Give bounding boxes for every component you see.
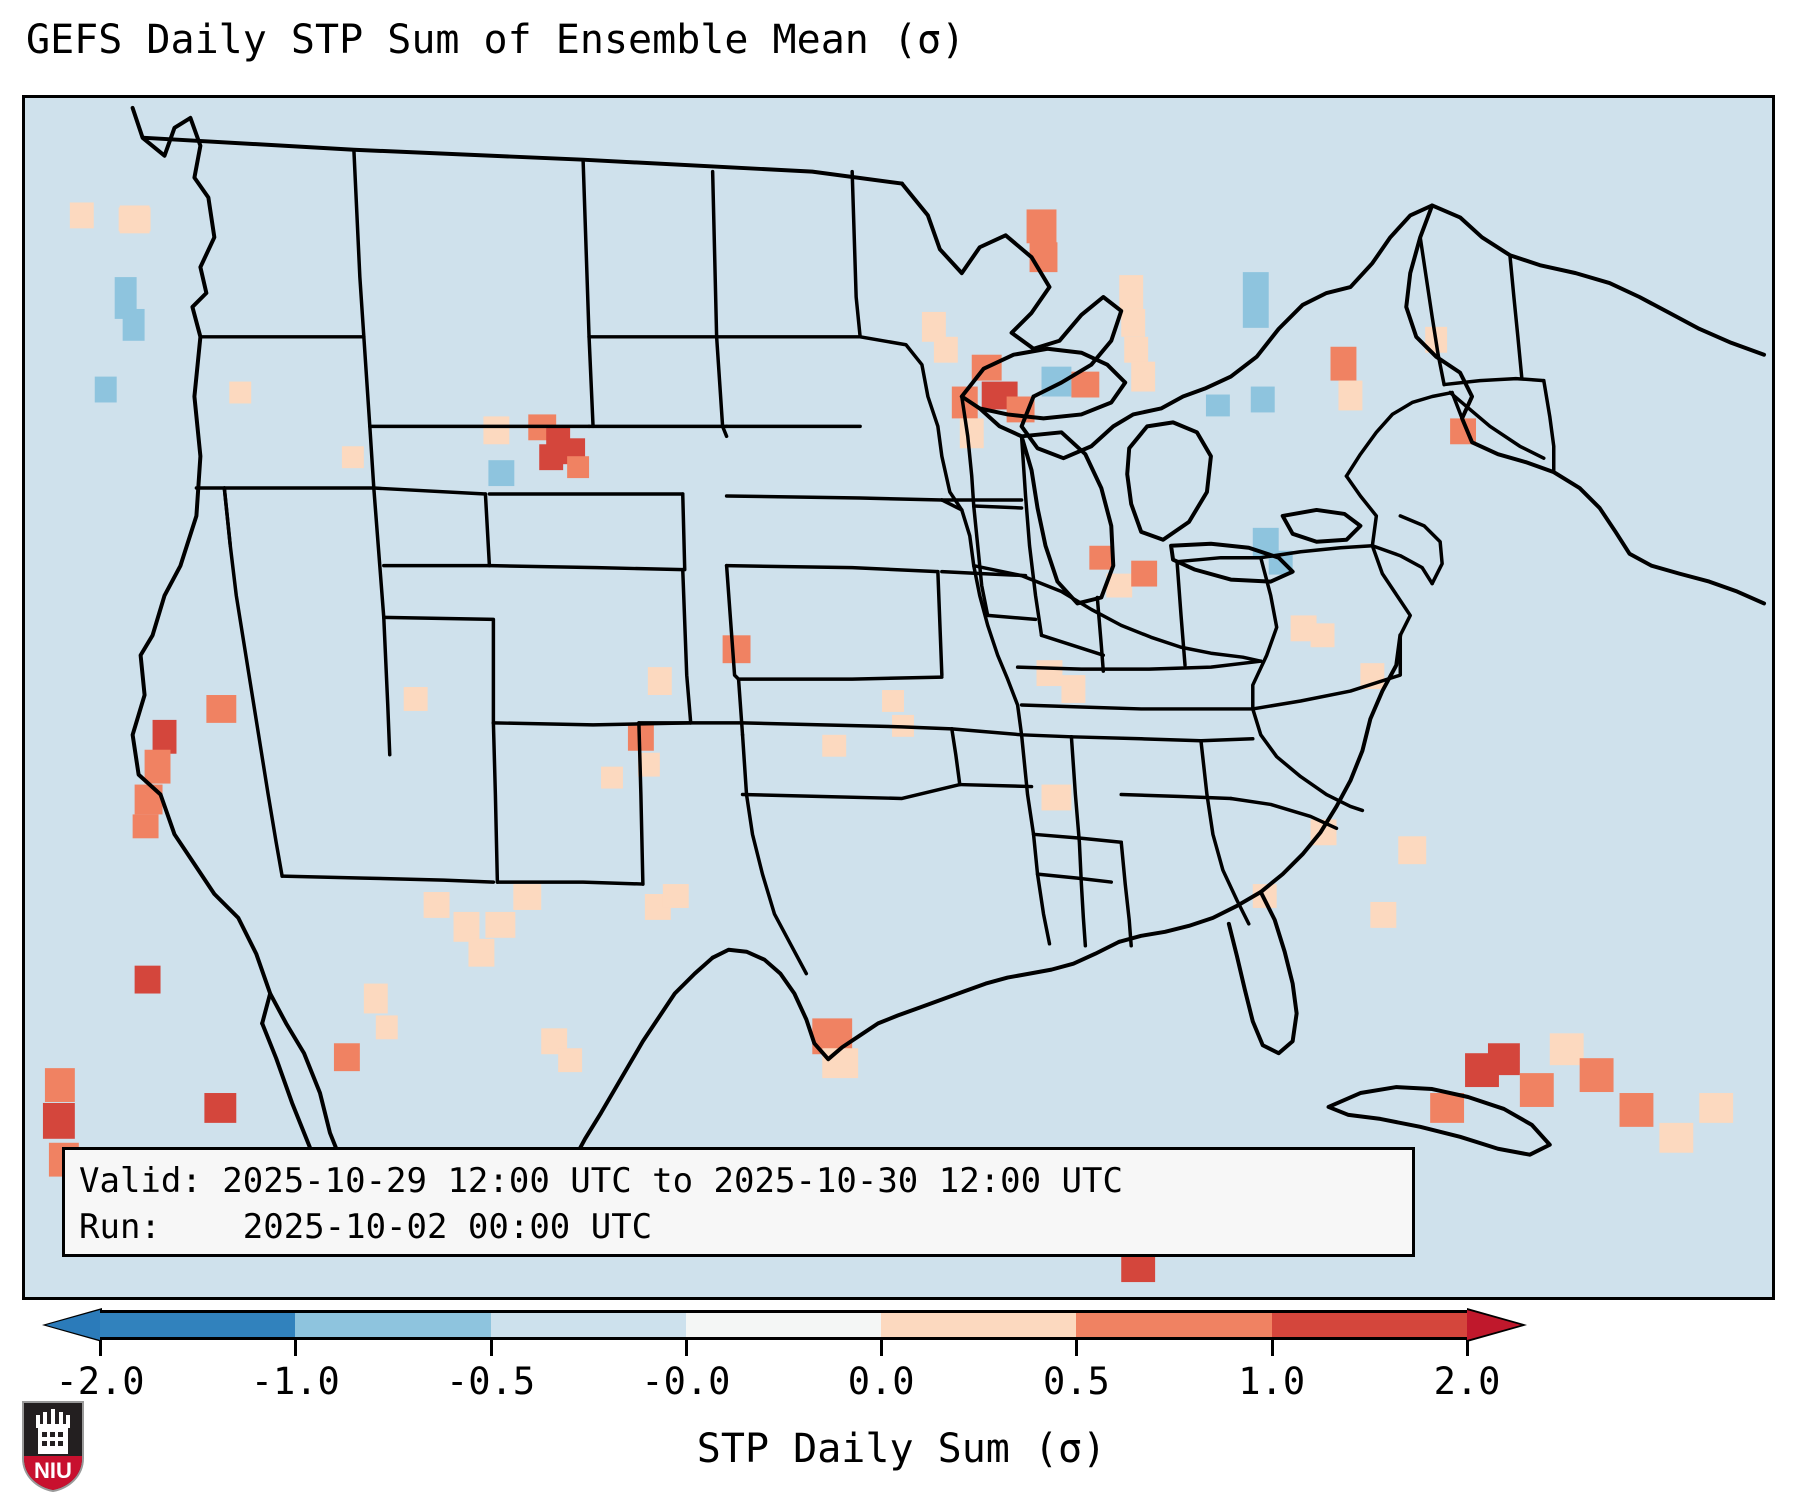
colorbar-axis-label: STP Daily Sum (σ) [0, 1424, 1803, 1474]
colorbar-band-1 [295, 1313, 490, 1337]
data-cell [45, 1068, 75, 1102]
colorbar-tick-label-4: 0.0 [848, 1360, 915, 1404]
colorbar-tick-2 [490, 1340, 493, 1356]
colorbar-tick-0 [99, 1340, 102, 1356]
data-cell [1430, 1093, 1464, 1123]
colorbar[interactable]: -2.0-1.0-0.5-0.00.00.51.02.0 [0, 1308, 1803, 1358]
data-cell [1131, 561, 1157, 587]
colorbar-band-6 [1272, 1313, 1467, 1337]
colorbar-ticks: -2.0-1.0-0.5-0.00.00.51.02.0 [100, 1340, 1467, 1400]
data-cell [723, 635, 751, 663]
colorbar-band-3 [686, 1313, 881, 1337]
data-cell [934, 337, 958, 363]
data-cell [153, 720, 177, 754]
data-cell [133, 814, 159, 838]
colorbar-tick-5 [1075, 1340, 1078, 1356]
data-cell [558, 1048, 582, 1072]
colorbar-bands[interactable] [100, 1310, 1467, 1340]
data-cell [1206, 395, 1230, 417]
data-cell [1699, 1093, 1733, 1123]
data-cell [1311, 623, 1335, 647]
data-cell [123, 309, 145, 341]
data-cell [1659, 1123, 1693, 1153]
colorbar-extend-high-arrow [1467, 1310, 1521, 1340]
data-cell [454, 912, 480, 942]
data-cell [648, 667, 672, 695]
colorbar-band-5 [1076, 1313, 1271, 1337]
data-cell [1338, 381, 1362, 411]
data-cell [1121, 309, 1145, 337]
colorbar-tick-label-6: 1.0 [1238, 1360, 1305, 1404]
data-cell [145, 750, 171, 784]
colorbar-tick-7 [1466, 1340, 1469, 1356]
data-cell [960, 418, 984, 448]
colorbar-tick-4 [880, 1340, 883, 1356]
colorbar-tick-label-1: -1.0 [251, 1360, 340, 1404]
forecast-info-box: Valid: 2025-10-29 12:00 UTC to 2025-10-3… [62, 1147, 1415, 1257]
data-cell [1243, 272, 1269, 302]
data-cell [206, 695, 236, 723]
data-cell [1119, 275, 1143, 309]
colorbar-band-0 [100, 1313, 295, 1337]
niu-logo-text: NIU [34, 1458, 72, 1483]
run-time-line: Run: 2025-10-02 00:00 UTC [79, 1204, 1398, 1250]
data-cell [1131, 362, 1155, 392]
data-cell [404, 687, 428, 711]
data-cell [1331, 347, 1357, 381]
data-cell [882, 690, 904, 712]
data-cell [1037, 660, 1063, 686]
data-cell [1089, 546, 1113, 570]
data-cell [539, 444, 563, 470]
colorbar-tick-3 [685, 1340, 688, 1356]
data-cell [342, 446, 364, 468]
colorbar-band-2 [491, 1313, 686, 1337]
data-cell [468, 939, 494, 967]
data-cell [119, 207, 151, 231]
data-cell [1580, 1058, 1614, 1092]
niu-logo: NIU [19, 1398, 87, 1494]
data-cell [135, 785, 163, 815]
page-title: GEFS Daily STP Sum of Ensemble Mean (σ) [26, 16, 965, 64]
colorbar-tick-6 [1271, 1340, 1274, 1356]
valid-time-line: Valid: 2025-10-29 12:00 UTC to 2025-10-3… [79, 1158, 1398, 1204]
data-cell [1520, 1073, 1554, 1107]
data-cell [485, 912, 515, 938]
colorbar-extend-low-arrow [46, 1310, 100, 1340]
data-cell [1027, 209, 1057, 243]
data-cell [663, 884, 689, 908]
data-cell [1061, 675, 1085, 703]
colorbar-tick-1 [294, 1340, 297, 1356]
data-cell [822, 1048, 858, 1078]
data-cell [488, 460, 514, 486]
data-cell [1488, 1043, 1520, 1075]
data-cell [364, 984, 388, 1014]
data-cell [70, 202, 94, 228]
map-plot-area [22, 95, 1775, 1300]
data-cell [483, 416, 509, 444]
data-cell [1124, 337, 1148, 363]
data-cell [513, 884, 541, 910]
data-cell [1620, 1093, 1654, 1127]
data-cell [204, 1093, 236, 1123]
data-cell [1398, 836, 1426, 864]
data-cell [229, 382, 251, 404]
data-cell [334, 1043, 360, 1071]
data-cell [1042, 785, 1072, 811]
data-cell [1251, 387, 1275, 413]
colorbar-band-4 [881, 1313, 1076, 1337]
data-cell [567, 456, 589, 478]
data-cell [376, 1015, 398, 1039]
data-cell [135, 966, 161, 994]
colorbar-tick-label-2: -0.5 [446, 1360, 535, 1404]
colorbar-tick-label-7: 2.0 [1434, 1360, 1501, 1404]
data-cell [95, 377, 117, 403]
data-cell [1550, 1033, 1584, 1065]
data-cell [1243, 302, 1269, 328]
colorbar-tick-label-3: -0.0 [641, 1360, 730, 1404]
data-cell [43, 1103, 75, 1139]
data-cell [601, 767, 623, 789]
colorbar-tick-label-5: 0.5 [1043, 1360, 1110, 1404]
data-cell [1370, 902, 1396, 928]
map-canvas [25, 98, 1772, 1297]
data-cell [822, 735, 846, 757]
data-cell [424, 892, 450, 918]
